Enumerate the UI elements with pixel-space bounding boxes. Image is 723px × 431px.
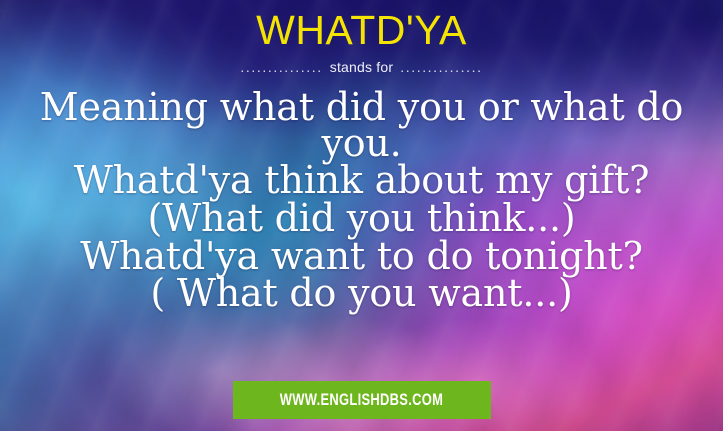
stands-for-label: stands for <box>330 59 393 75</box>
stands-for-row: ............... stands for .............… <box>240 59 482 75</box>
definition-line-meaning: Meaning what did you or what do you. <box>32 89 692 163</box>
page-title: WHATD'YA <box>256 9 467 52</box>
card-content: WHATD'YA ............... stands for ....… <box>0 0 723 431</box>
dots-right: ............... <box>400 59 482 75</box>
website-button[interactable]: WWW.ENGLISHDBS.COM <box>233 381 491 419</box>
definition-line-example-2-gloss: ( What do you want...) <box>32 275 692 313</box>
definition-card: WHATD'YA ............... stands for ....… <box>0 0 723 431</box>
definition-line-example-2: Whatd'ya want to do tonight? <box>32 238 692 276</box>
footer-area: WWW.ENGLISHDBS.COM <box>0 381 723 419</box>
dots-left: ............... <box>240 59 322 75</box>
definition-line-example-1: Whatd'ya think about my gift? <box>32 162 692 200</box>
definition-block: Meaning what did you or what do you. Wha… <box>32 89 692 313</box>
definition-line-example-1-gloss: (What did you think...) <box>32 200 692 238</box>
website-button-label: WWW.ENGLISHDBS.COM <box>280 390 443 410</box>
